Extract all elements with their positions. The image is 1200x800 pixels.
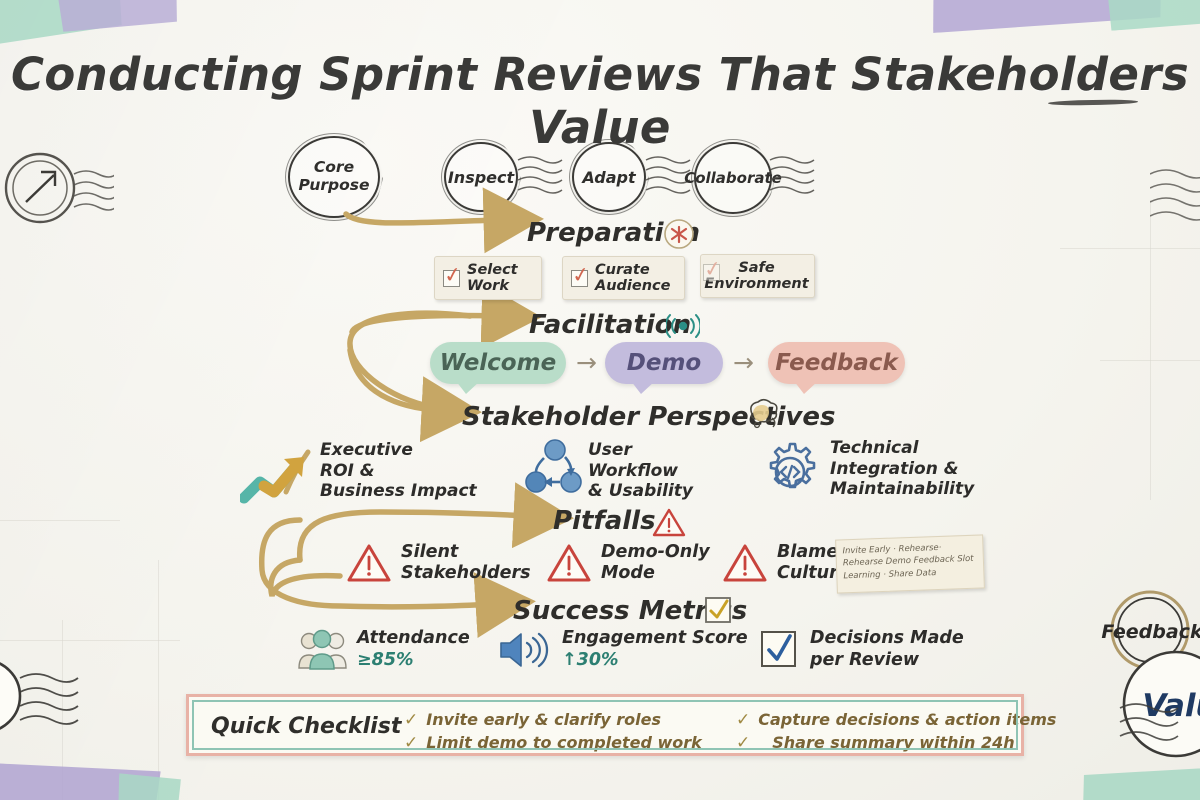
checklist-item-text: Share summary within 24h xyxy=(758,733,1014,752)
checklist-item[interactable]: ✓ Invite early & clarify roles xyxy=(404,710,661,730)
bubble-label: Feedback xyxy=(775,350,898,376)
perspective-line: User xyxy=(588,440,693,461)
core-circle-core-purpose[interactable]: Core Purpose xyxy=(288,136,380,218)
metric-value: per Review xyxy=(810,650,964,672)
workflow-nodes-icon xyxy=(524,438,586,500)
metric-engagement-score: Engagement Score ↑30% xyxy=(497,628,748,671)
warning-triangle-icon xyxy=(651,506,687,538)
postmark-waves xyxy=(74,171,114,210)
checklist-item-text: Limit demo to completed work xyxy=(426,733,702,752)
check-icon: ✓ xyxy=(736,710,750,730)
warning-triangle-icon xyxy=(546,543,592,583)
check-icon: ✓ xyxy=(404,710,418,730)
facilitation-arrow-2: → xyxy=(733,348,754,377)
perspective-line: Workflow xyxy=(588,461,693,482)
bubble-label: Welcome xyxy=(440,350,556,376)
core-circle-label: Adapt xyxy=(582,168,635,187)
prep-card-safe-environment[interactable]: Safe Environment xyxy=(700,254,815,298)
arrow-up-right-icon xyxy=(26,172,55,202)
pitfall-line1: Demo-Only xyxy=(601,542,710,563)
warning-triangle-icon xyxy=(346,543,392,583)
check-icon: ✓ xyxy=(736,733,750,753)
perspective-line: Maintainability xyxy=(830,479,974,500)
section-heading-perspectives: Stakeholder Perspectives xyxy=(462,402,835,432)
bubble-label: Demo xyxy=(627,350,701,376)
people-group-icon xyxy=(296,628,348,672)
pitfall-demo-only-mode: Demo-Only Mode xyxy=(546,542,710,584)
checklist-item-text: Invite early & clarify roles xyxy=(426,710,661,729)
perspective-line: Executive xyxy=(320,440,477,461)
metric-label: Attendance xyxy=(357,628,470,650)
perspective-user: User Workflow & Usability xyxy=(588,440,693,502)
bubble-tail xyxy=(631,381,655,394)
trending-up-arrow-icon xyxy=(240,446,312,506)
bubble-tail xyxy=(456,381,480,394)
core-circle-label-line1: Core xyxy=(299,159,370,177)
facilitation-bubble-feedback[interactable]: Feedback xyxy=(768,342,905,384)
metric-value: ↑30% xyxy=(562,650,748,672)
pitfall-silent-stakeholders: Silent Stakeholders xyxy=(346,542,531,584)
bubble-tail xyxy=(794,381,818,394)
thinking-head-icon xyxy=(744,398,778,434)
postmark-waves-right xyxy=(1118,688,1200,800)
grid-line xyxy=(0,520,120,521)
core-circle-collaborate[interactable]: Collaborate xyxy=(694,142,772,214)
broadcast-icon xyxy=(666,311,700,341)
checkbox-checked-icon xyxy=(703,595,733,625)
gear-code-icon xyxy=(756,438,824,506)
perspective-technical: Technical Integration & Maintainability xyxy=(830,438,974,500)
metric-value: ≥85% xyxy=(357,650,470,672)
checkbox-checked-icon[interactable] xyxy=(571,270,588,287)
prep-card-select-work[interactable]: Select Work xyxy=(434,256,542,300)
pushpin-icon xyxy=(662,217,696,251)
metric-label: Engagement Score xyxy=(562,628,748,650)
metric-label: Decisions Made xyxy=(810,628,964,650)
checkbox-checked-icon[interactable] xyxy=(703,264,720,281)
pitfall-line1: Silent xyxy=(401,542,531,563)
core-circle-inspect[interactable]: Inspect xyxy=(444,142,518,212)
quick-checklist-title: Quick Checklist xyxy=(211,714,401,739)
metric-decisions-made: Decisions Made per Review xyxy=(757,628,964,672)
facilitation-arrow-1: → xyxy=(576,348,597,377)
perspective-executive: Executive ROI & Business Impact xyxy=(320,440,477,502)
check-icon: ✓ xyxy=(404,733,418,753)
pitfalls-heading-text: Pitfalls xyxy=(553,506,656,536)
perspective-line: Business Impact xyxy=(320,481,477,502)
handwritten-scrap-note: Invite Early · Rehearse· Rehearse Demo F… xyxy=(835,534,985,593)
prep-card-line1: Curate xyxy=(595,262,670,278)
pitfall-blame-culture: Blame Culture xyxy=(722,542,850,584)
checkbox-checked-icon[interactable] xyxy=(443,270,460,287)
prep-card-curate-audience[interactable]: Curate Audience xyxy=(562,256,685,300)
checkbox-checked-icon xyxy=(757,628,801,672)
stamp-partial-value: e xyxy=(0,640,134,770)
postmark-waves-top-right xyxy=(1150,160,1200,280)
perspective-line: Integration & xyxy=(830,459,974,480)
grid-line xyxy=(158,560,159,800)
pitfall-line2: Mode xyxy=(601,563,710,584)
core-circle-label: Collaborate xyxy=(684,169,782,187)
perspective-line: ROI & xyxy=(320,461,477,482)
prep-card-line1: Select xyxy=(467,262,518,278)
grid-line xyxy=(1100,360,1200,361)
checklist-item[interactable]: ✓ Limit demo to completed work xyxy=(404,733,702,753)
core-circle-label-line2: Purpose xyxy=(299,177,370,195)
prep-card-line2: Audience xyxy=(595,278,670,294)
prep-card-line2: Work xyxy=(467,278,518,294)
checklist-item[interactable]: ✓ Capture decisions & action items xyxy=(736,710,1056,730)
core-circle-label: Inspect xyxy=(448,168,514,187)
metric-attendance: Attendance ≥85% xyxy=(296,628,470,672)
checklist-item-text: Capture decisions & action items xyxy=(758,710,1056,729)
pitfall-line2: Stakeholders xyxy=(401,563,531,584)
speaker-icon xyxy=(497,629,553,671)
stamp-feedback-label: Feedback xyxy=(1101,621,1200,643)
section-heading-pitfalls: Pitfalls xyxy=(553,506,656,536)
stamp-arrow xyxy=(0,138,114,248)
perspective-line: Technical xyxy=(830,438,974,459)
quick-checklist-panel: Quick Checklist ✓ Invite early & clarify… xyxy=(186,694,1024,756)
core-circle-adapt[interactable]: Adapt xyxy=(572,142,646,212)
perspectives-heading-text: Stakeholder Perspectives xyxy=(462,402,835,432)
warning-triangle-icon xyxy=(722,543,768,583)
page-title: Conducting Sprint Reviews That Stakehold… xyxy=(0,48,1200,154)
facilitation-bubble-welcome[interactable]: Welcome xyxy=(430,342,566,384)
checklist-item[interactable]: ✓ Share summary within 24h xyxy=(736,733,1015,753)
facilitation-bubble-demo[interactable]: Demo xyxy=(605,342,723,384)
perspective-line: & Usability xyxy=(588,481,693,502)
